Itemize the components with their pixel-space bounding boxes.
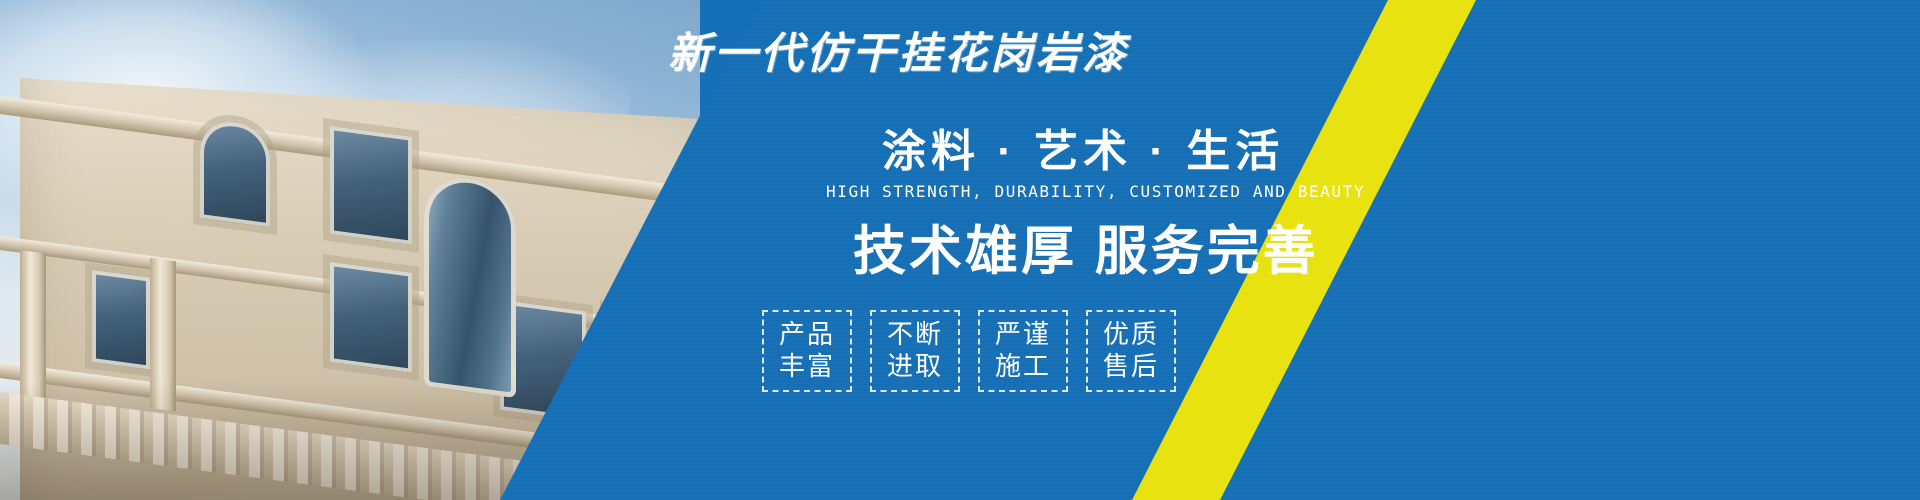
feature-badge-line2: 施工 — [995, 351, 1051, 383]
tagline-text: 涂料 · 艺术 · 生活 — [882, 128, 1284, 176]
english-subtitle: HIGH STRENGTH, DURABILITY, CUSTOMIZED AN… — [826, 182, 1365, 201]
promo-banner: 新一代仿干挂花岗岩漆 涂料 · 艺术 · 生活 HIGH STRENGTH, D… — [0, 0, 1920, 500]
feature-badge: 不断 进取 — [870, 310, 960, 392]
main-slogan: 技术雄厚 服务完善 — [853, 222, 1319, 283]
feature-badge-line2: 售后 — [1103, 351, 1159, 383]
feature-badge: 严谨 施工 — [978, 310, 1068, 392]
feature-badge-line1: 产品 — [779, 319, 835, 351]
feature-badge-line1: 优质 — [1103, 319, 1159, 351]
feature-badge-row: 产品 丰富 不断 进取 严谨 施工 优质 售后 — [762, 310, 1176, 392]
feature-badge: 优质 售后 — [1086, 310, 1176, 392]
feature-badge-line1: 严谨 — [995, 319, 1051, 351]
feature-badge-line2: 进取 — [887, 351, 943, 383]
feature-badge: 产品 丰富 — [762, 310, 852, 392]
feature-badge-line2: 丰富 — [779, 351, 835, 383]
feature-badge-line1: 不断 — [887, 319, 943, 351]
headline-brush-text: 新一代仿干挂花岗岩漆 — [668, 33, 1088, 76]
banner-content: 新一代仿干挂花岗岩漆 涂料 · 艺术 · 生活 HIGH STRENGTH, D… — [0, 0, 1920, 500]
